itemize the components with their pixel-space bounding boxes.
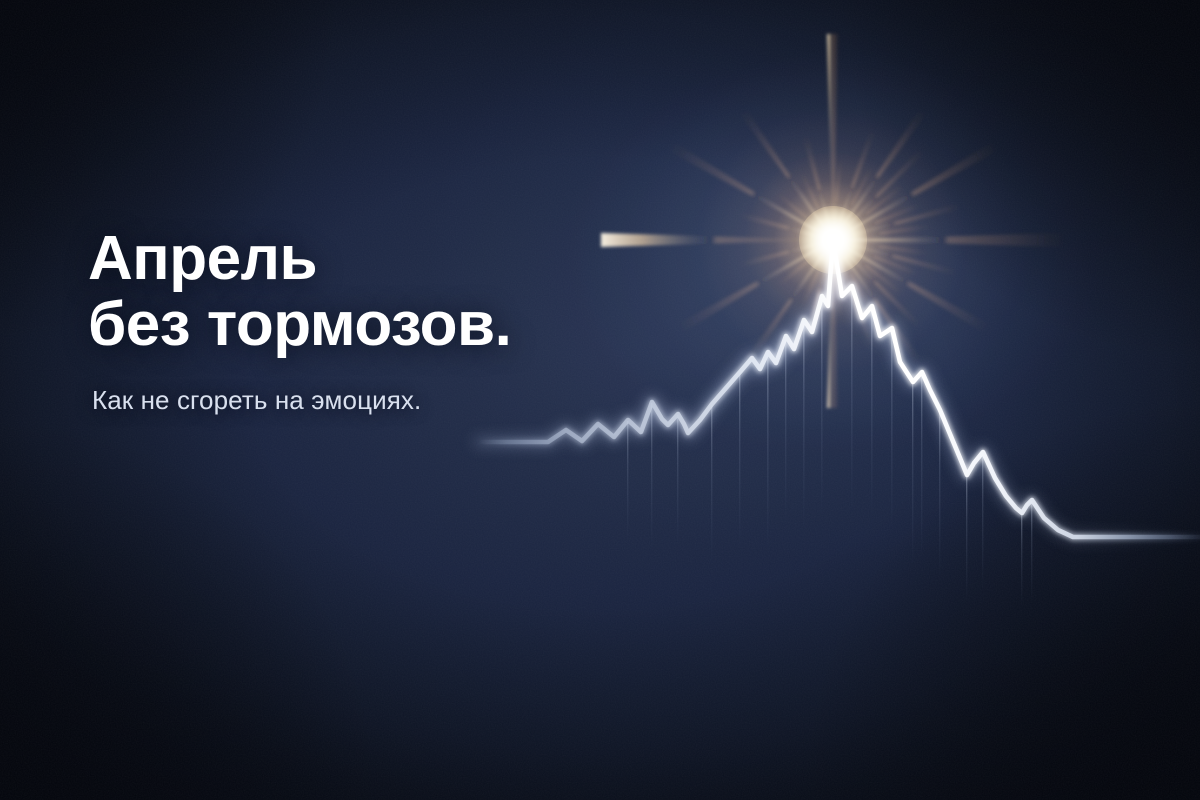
page-title: Апрель без тормозов. [88,226,708,359]
copy-block: Апрель без тормозов. Как не сгореть на э… [88,226,708,416]
subtitle: Как не сгореть на эмоциях. [92,385,708,416]
poster-canvas: Апрель без тормозов. Как не сгореть на э… [0,0,1200,800]
